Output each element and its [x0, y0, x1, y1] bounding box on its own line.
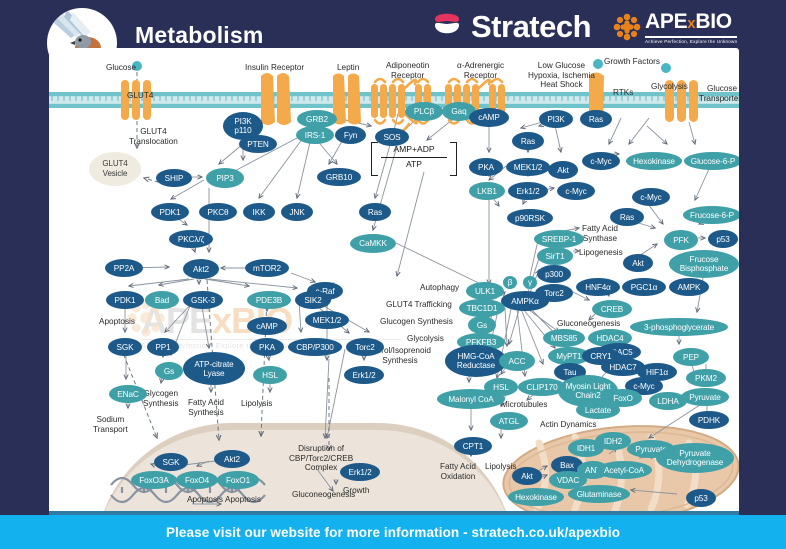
node-enac[interactable]: ENaC — [109, 385, 147, 403]
node-pde3b[interactable]: PDE3B — [247, 291, 291, 309]
node-hsl-1[interactable]: HSL — [253, 366, 287, 384]
node-pkclz[interactable]: PKCλ/ζ — [169, 230, 213, 248]
pathway-canvas: APExBIO Achieve Perfection, Explore the … — [49, 48, 739, 515]
node-ras-4[interactable]: Ras — [610, 208, 644, 226]
node-erk12-1[interactable]: Erk1/2 — [344, 366, 384, 384]
label-growth: Growth — [343, 486, 369, 496]
node-acc[interactable]: ACC — [499, 351, 535, 371]
node-cpt1[interactable]: CPT1 — [454, 437, 492, 455]
node-gsk3[interactable]: GSK-3 — [183, 291, 223, 309]
label-glucose-transporters: GlucoseTransporters — [699, 84, 739, 103]
node-foxo1[interactable]: FoxO1 — [217, 471, 259, 489]
node-gs-1[interactable]: Gs — [468, 316, 496, 334]
node-irs1[interactable]: IRS-1 — [296, 126, 334, 144]
label-fatty-acid-synthase: Fatty AcidSynthase — [582, 224, 618, 243]
node-hnf4a[interactable]: HNF4α — [576, 278, 620, 296]
apexbio-logo: APExBIO Achieve Perfection, Explore the … — [612, 11, 737, 44]
node-pp2a[interactable]: PP2A — [105, 259, 143, 277]
node-glucose6p[interactable]: Glucose-6-P — [684, 152, 739, 170]
node-pdhk[interactable]: PDHK — [689, 411, 729, 429]
label-glucogen-synthesis: Glucogen Synthesis — [380, 317, 453, 327]
stratech-logo: Stratech — [430, 9, 591, 45]
label-gluconeogenesis-1: Gluconeogenesis — [557, 319, 620, 329]
node-lkb1[interactable]: LKB1 — [469, 182, 505, 200]
node-bad[interactable]: Bad — [145, 291, 179, 309]
apexbio-wordmark: APExBIO — [645, 11, 737, 34]
node-mtor2[interactable]: mTOR2 — [245, 259, 289, 277]
node-atp-citrate-lyase[interactable]: ATP-citrateLyase — [183, 352, 245, 385]
apexbio-tagline: Achieve Perfection, Explore the Unknown — [645, 39, 737, 44]
node-erk12-2[interactable]: Erk1/2 — [508, 182, 548, 200]
page-title: Metabolism — [135, 22, 264, 49]
node-pka-2[interactable]: PKA — [250, 338, 284, 356]
label-glycolysis-top: Glycolysis — [651, 82, 688, 92]
node-torc2-1[interactable]: Torc2 — [346, 338, 384, 356]
amp-adp-atp-ratio: AMP+ADP ATP — [371, 142, 457, 174]
node-sik2[interactable]: SIK2 — [295, 291, 331, 309]
node-sgk-2[interactable]: SGK — [154, 453, 188, 471]
node-sgk-1[interactable]: SGK — [108, 338, 142, 356]
node-camp-1[interactable]: cAMP — [469, 108, 509, 127]
node-foxo4[interactable]: FoxO4 — [176, 471, 218, 489]
apexbio-rule — [645, 36, 737, 38]
node-pkm2[interactable]: PKM2 — [686, 369, 726, 387]
stratech-wordmark: Stratech — [471, 9, 591, 45]
node-cmyc-2[interactable]: c-Myc — [557, 182, 595, 200]
node-hexokinase-1[interactable]: Hexokinase — [626, 152, 682, 170]
node-cry1[interactable]: CRY1 — [582, 347, 620, 365]
node-akt2-2[interactable]: Akt2 — [214, 450, 250, 468]
node-ras-3[interactable]: Ras — [512, 132, 544, 150]
label-glut4-top: GLUT4 — [127, 91, 153, 101]
node-akt-1[interactable]: Akt — [548, 161, 578, 179]
label-microtubules: Microtubules — [501, 400, 547, 410]
label-glut4-translocation: GLUT4Translocation — [129, 127, 178, 146]
node-camp-2[interactable]: cAMP — [247, 317, 287, 335]
label-glycogen-synthesis: GlycogenSynthesis — [143, 389, 179, 408]
bracket-left — [371, 142, 378, 176]
node-mek12-1[interactable]: MEK1/2 — [305, 311, 349, 329]
bracket-right — [450, 142, 457, 176]
label-glucose: Glucose — [106, 63, 136, 73]
footer-text: Please visit our website for more inform… — [166, 525, 620, 540]
label-apoptosis-1: Apoptosis — [99, 317, 135, 327]
label-glut4-trafficking: GLUT4 Trafficking — [386, 300, 452, 310]
label-insulin-receptor: Insulin Receptor — [245, 63, 304, 73]
label-leptin: Leptin — [337, 63, 359, 73]
node-pyruvate-1[interactable]: Pyruvate — [681, 388, 729, 406]
node-pp1[interactable]: PP1 — [147, 338, 179, 356]
node-atgl[interactable]: ATGL — [490, 412, 528, 430]
node-hexokinase-2[interactable]: Hexokinase — [508, 488, 564, 506]
node-pip3[interactable]: PIP3 — [206, 168, 244, 188]
node-akt-2[interactable]: Akt — [623, 254, 653, 272]
label-autophagy: Autophagy — [420, 283, 459, 293]
node-foxo3a[interactable]: FoxO3A — [131, 471, 177, 489]
node-grb10[interactable]: GRB10 — [317, 168, 361, 186]
header-bar: Metabolism Stratech — [0, 0, 786, 52]
node-sos[interactable]: SOS — [375, 128, 409, 146]
node-pgc1a[interactable]: PGC1α — [622, 278, 666, 296]
node-akt-3[interactable]: Akt — [512, 467, 542, 485]
node-pkctheta[interactable]: PKCθ — [199, 203, 237, 221]
node-p300[interactable]: p300 — [537, 265, 571, 283]
node-pdk1-2[interactable]: PDK1 — [106, 291, 144, 309]
label-apoptosis-2: Apoptosis — [225, 495, 261, 505]
label-rtks: RTKs — [613, 88, 633, 98]
node-pka-1[interactable]: PKA — [469, 158, 503, 176]
label-sodium-transport: SodiumTransport — [93, 415, 128, 434]
node-ulk1[interactable]: ULK1 — [466, 282, 504, 300]
label-adiponectin: AdiponeotinReceptor — [386, 61, 429, 80]
label-growth-factors: Growth Factors — [604, 57, 660, 67]
footer-bar: Please visit our website for more inform… — [0, 515, 786, 549]
node-torc2-2[interactable]: Torc2 — [535, 284, 573, 302]
node-creb[interactable]: CREB — [592, 300, 632, 318]
node-jnk[interactable]: JNK — [281, 203, 313, 221]
node-pfk[interactable]: PFK — [664, 230, 698, 250]
label-lipogenesis: Lipogenesis — [579, 248, 623, 258]
stratech-mark-icon — [430, 12, 464, 42]
node-hmg-coa-reductase[interactable]: HMG-CoAReductase — [445, 345, 507, 377]
node-ras-1[interactable]: Ras — [359, 203, 391, 221]
node-mek12-2[interactable]: MEK1/2 — [506, 158, 550, 176]
node-p53-2[interactable]: p53 — [686, 489, 716, 507]
label-apoptosis-3: Apoptosis — [187, 495, 223, 505]
node-frucose6p[interactable]: Frucose-6-P — [683, 206, 739, 224]
node-ampk[interactable]: AMPK — [669, 278, 709, 296]
label-lipolysis-1: Lipolysis — [241, 399, 272, 409]
node-akt2-1[interactable]: Akt2 — [183, 259, 219, 279]
node-glut4-vesicle[interactable]: GLUT4Vesicle — [89, 152, 141, 186]
label-fatty-acid-oxidation: Fatty AcidOxidation — [440, 462, 476, 481]
ratio-divider — [381, 157, 447, 158]
node-fyn[interactable]: Fyn — [335, 126, 366, 144]
label-stress: Low GlucoseHypoxia, IschemiaHeat Shock — [528, 61, 595, 90]
label-glycolysis-node: Glycolysis — [407, 334, 444, 344]
node-pyruvate-dehydrogenase[interactable]: PyruvateDehydrogenase — [656, 443, 734, 473]
node-ikk[interactable]: IKK — [243, 203, 275, 221]
node-mbs85[interactable]: MBS85 — [543, 329, 585, 347]
label-adrenergic: α-AdrenergicReceptor — [457, 61, 504, 80]
node-ship[interactable]: SHIP — [156, 169, 192, 187]
node-ampk-gamma[interactable]: γ — [523, 276, 537, 289]
node-gs-2[interactable]: Gs — [155, 362, 183, 380]
node-glutaminase[interactable]: Glutaminase — [568, 485, 630, 503]
node-pdk1[interactable]: PDK1 — [151, 203, 189, 221]
node-plcb[interactable]: PLCβ — [405, 102, 443, 121]
label-actin-dynamics: Actin Dynamics — [540, 420, 596, 430]
node-erk12-nuc[interactable]: Erk1/2 — [340, 463, 380, 481]
node-idh2[interactable]: IDH2 — [595, 432, 631, 450]
node-srebp1[interactable]: SREBP-1 — [534, 230, 584, 248]
apexbio-flower-icon — [612, 12, 642, 42]
node-hsl-2[interactable]: HSL — [484, 378, 518, 396]
label-lipolysis-2: Lipolysis — [485, 462, 516, 472]
node-p90rsk[interactable]: p90RSK — [507, 209, 553, 227]
metabolism-pathway-poster: Metabolism Stratech — [0, 0, 786, 549]
node-pten[interactable]: PTEN — [239, 135, 277, 153]
node-frucose-bisphosphate[interactable]: FrucoseBisphosphate — [669, 250, 739, 278]
node-cbp-p300[interactable]: CBP/P300 — [288, 338, 342, 356]
node-cmyc-3[interactable]: c-Myc — [632, 188, 670, 206]
node-tbc1d1[interactable]: TBC1D1 — [459, 299, 505, 317]
node-pi3k[interactable]: PI3K — [539, 110, 573, 128]
node-camkk[interactable]: CaMKK — [350, 234, 396, 253]
node-ras-2[interactable]: Ras — [580, 110, 612, 128]
ratio-denominator: ATP — [379, 159, 449, 169]
node-p53-1[interactable]: p53 — [708, 230, 738, 248]
node-3-phosphoglycerate[interactable]: 3-phosphoglycerate — [630, 318, 728, 336]
node-pep[interactable]: PEP — [673, 348, 709, 366]
node-lactate[interactable]: Lactate — [576, 401, 620, 419]
label-fatty-acid-synthesis: Fatty AcidSynthesis — [188, 398, 224, 417]
node-acetyl-coa[interactable]: Acetyl-CoA — [596, 461, 652, 479]
node-sirt1[interactable]: SirT1 — [537, 247, 573, 265]
node-cmyc-1[interactable]: c-Myc — [582, 152, 620, 170]
node-ampk-beta[interactable]: β — [503, 276, 517, 289]
